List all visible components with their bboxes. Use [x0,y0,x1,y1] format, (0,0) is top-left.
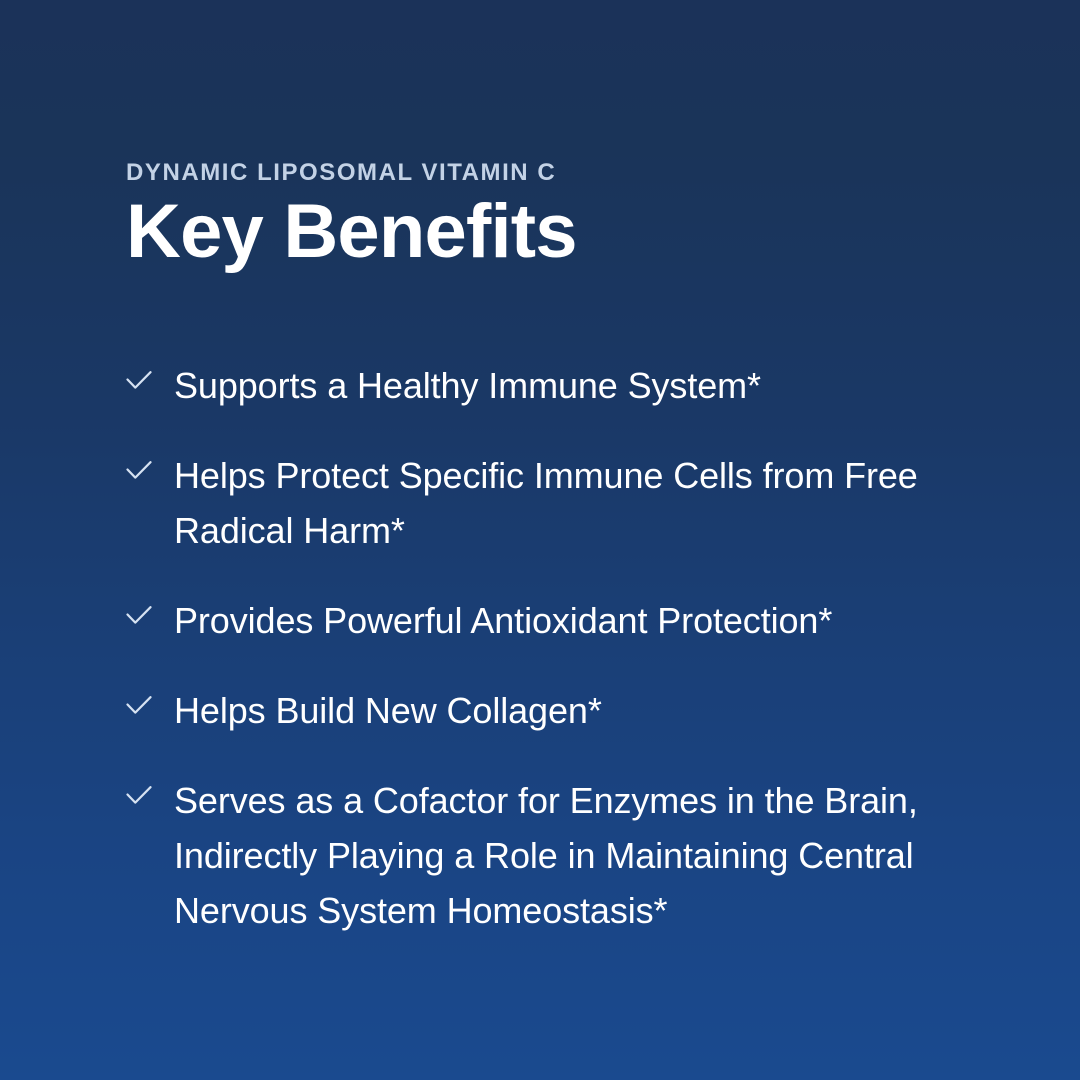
checkmark-icon [126,593,152,637]
content-container: DYNAMIC LIPOSOMAL VITAMIN C Key Benefits… [126,160,1006,273]
header-block: DYNAMIC LIPOSOMAL VITAMIN C Key Benefits [126,160,1006,273]
list-item: Helps Protect Specific Immune Cells from… [126,448,1006,558]
list-item: Serves as a Cofactor for Enzymes in the … [126,773,1006,938]
benefit-text: Helps Build New Collagen* [174,683,602,738]
checkmark-icon [126,358,152,402]
benefit-text: Provides Powerful Antioxidant Protection… [174,593,832,648]
benefit-text: Supports a Healthy Immune System* [174,358,761,413]
list-item: Supports a Healthy Immune System* [126,358,1006,413]
page-title: Key Benefits [126,192,1006,273]
benefit-text: Helps Protect Specific Immune Cells from… [174,448,974,558]
benefits-list: Supports a Healthy Immune System* Helps … [126,358,1006,938]
key-benefits-card: DYNAMIC LIPOSOMAL VITAMIN C Key Benefits… [0,0,1080,1080]
checkmark-icon [126,773,152,817]
benefit-text: Serves as a Cofactor for Enzymes in the … [174,773,974,938]
checkmark-icon [126,448,152,492]
checkmark-icon [126,683,152,727]
list-item: Helps Build New Collagen* [126,683,1006,738]
product-eyebrow-label: DYNAMIC LIPOSOMAL VITAMIN C [126,160,1006,186]
list-item: Provides Powerful Antioxidant Protection… [126,593,1006,648]
